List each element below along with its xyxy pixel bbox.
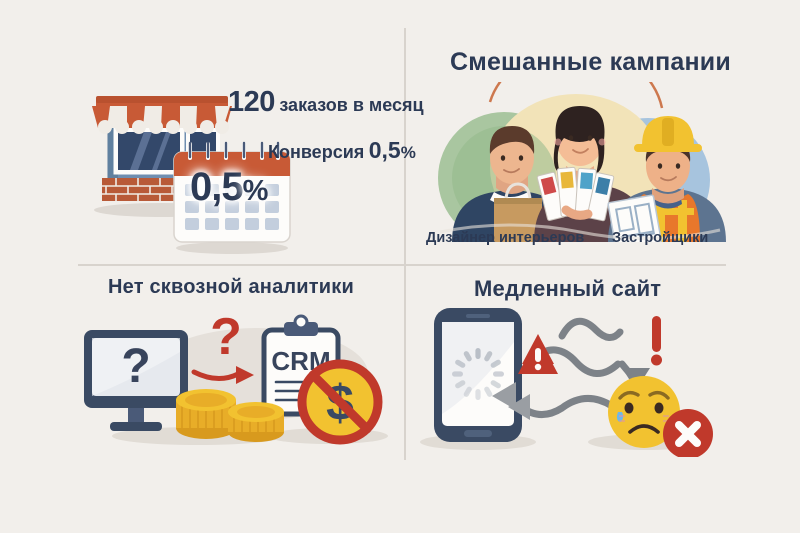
phone-loading-icon: [434, 308, 522, 442]
mixed-campaigns-heading: Смешанные кампании: [450, 48, 731, 77]
calendar-conversion-value: 0,5%: [190, 165, 267, 210]
svg-text:?: ?: [121, 340, 150, 393]
monitor-question-icon: ?: [84, 330, 188, 431]
warning-triangle-icon: [518, 334, 558, 374]
quadrant-low-orders: 0,5% 120 заказов в месяц Конверсия 0,5%: [78, 40, 404, 264]
no-analytics-heading: Нет сквозной аналитики: [108, 276, 354, 299]
no-money-icon: $: [302, 364, 378, 440]
quadrant-no-analytics: Нет сквозной аналитики ? ?: [78, 270, 404, 460]
quadrant-slow-website: Медленный сайт: [416, 270, 736, 460]
conversion-value: 0,5: [369, 137, 401, 163]
orders-stat: 120 заказов в месяц: [228, 86, 424, 119]
error-cross-icon: [663, 409, 713, 457]
exclamation-mark-icon: [651, 316, 662, 366]
horizontal-divider: [78, 264, 726, 266]
orders-label: заказов в месяц: [279, 95, 423, 115]
people-illustration: [416, 82, 736, 242]
conversion-label: Конверсия: [268, 142, 364, 162]
infographic-canvas: 0,5% 120 заказов в месяц Конверсия 0,5% …: [0, 0, 800, 533]
label-builder: Застройщики: [612, 230, 708, 246]
svg-text:?: ?: [210, 308, 242, 366]
label-designer: Дизайнер интерьеров: [426, 230, 584, 246]
slow-website-heading: Медленный сайт: [474, 276, 661, 302]
analytics-illustration: ? ? CRM: [78, 304, 404, 454]
percent-sign: %: [401, 143, 416, 162]
orders-value: 120: [228, 86, 275, 118]
quadrant-mixed-campaigns: Смешанные кампании: [416, 40, 736, 264]
conversion-stat: Конверсия 0,5%: [268, 137, 416, 164]
slow-site-illustration: [416, 302, 736, 457]
